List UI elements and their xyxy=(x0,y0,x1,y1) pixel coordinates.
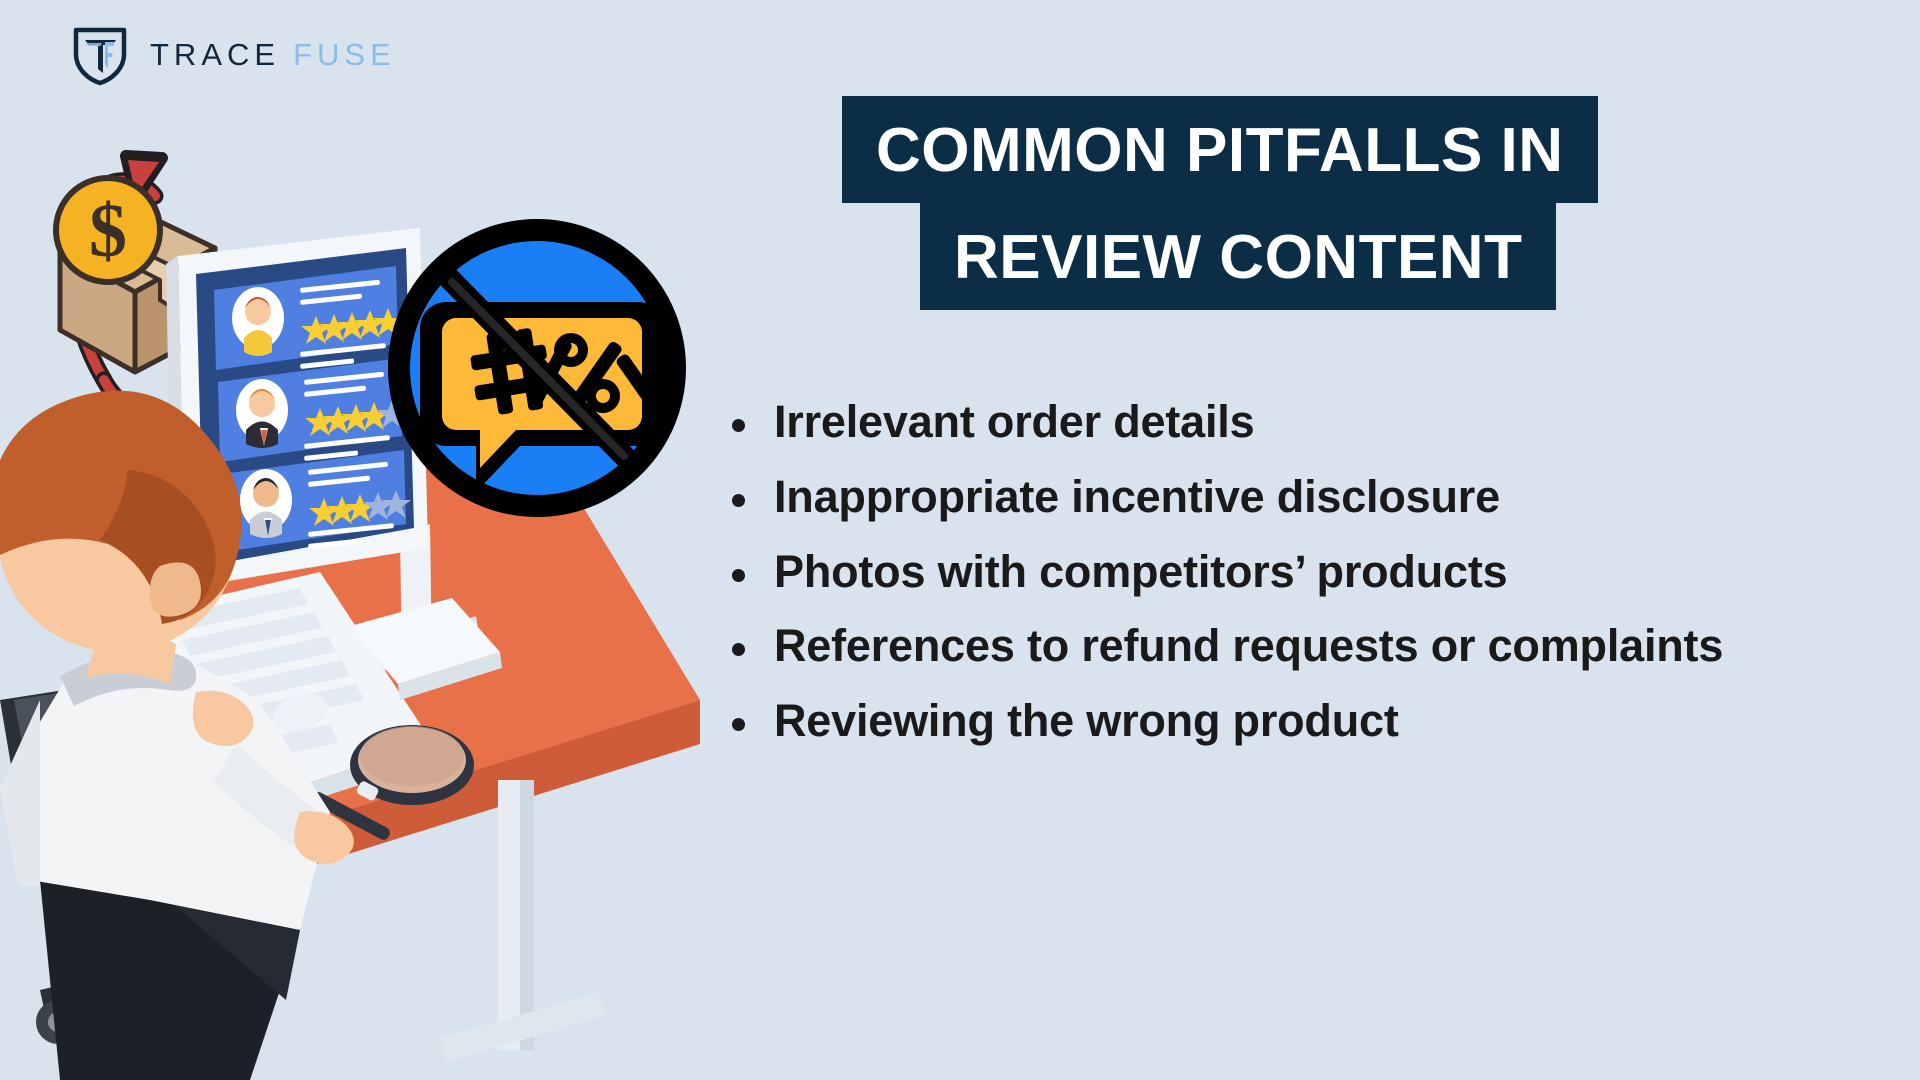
list-item: Irrelevant order details xyxy=(722,390,1882,455)
page-title: COMMON PITFALLS IN REVIEW CONTENT xyxy=(842,96,1598,310)
blocked-profanity-comment-icon xyxy=(399,230,675,506)
list-item: Photos with competitors’ products xyxy=(722,540,1882,605)
hero-illustration: $ xyxy=(0,0,700,1080)
illustration-canvas: $ xyxy=(0,0,700,1080)
slide-root: TRACE FUSE COMMON PITFALLS IN REVIEW CON… xyxy=(0,0,1920,1080)
dollar-coin-icon: $ xyxy=(56,178,160,282)
list-item: Inappropriate incentive disclosure xyxy=(722,465,1882,530)
page-title-line-1: COMMON PITFALLS IN xyxy=(842,96,1598,203)
svg-text:$: $ xyxy=(89,189,127,273)
list-item: References to refund requests or complai… xyxy=(722,614,1882,679)
page-title-line-2: REVIEW CONTENT xyxy=(920,203,1556,310)
pitfalls-list: Irrelevant order details Inappropriate i… xyxy=(722,390,1882,764)
list-item: Reviewing the wrong product xyxy=(722,689,1882,754)
